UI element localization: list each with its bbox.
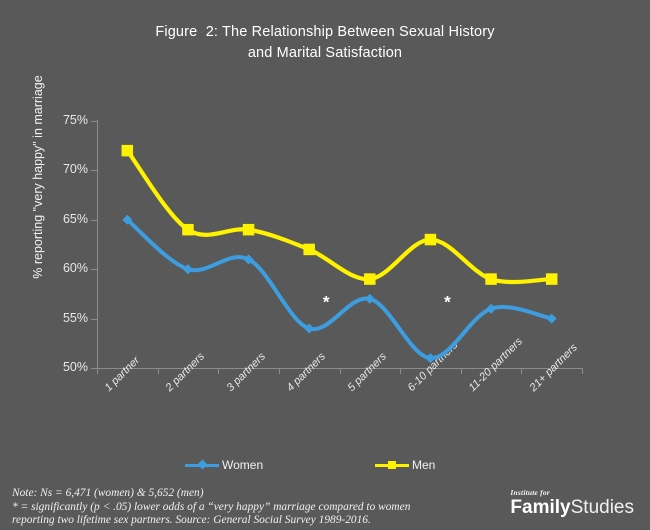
- series-line-men: [127, 151, 551, 282]
- logo-wordmark: FamilyStudies: [510, 498, 634, 518]
- data-point-men-4: [365, 274, 376, 285]
- legend-label-women: Women: [222, 458, 263, 472]
- data-point-men-2: [243, 224, 254, 235]
- legend: Women Men: [97, 458, 582, 480]
- data-point-women-5: [425, 353, 435, 363]
- legend-item-men[interactable]: Men: [375, 458, 435, 472]
- institute-for-family-studies-logo: Institute for FamilyStudies: [510, 488, 634, 518]
- logo-family-text: Family: [510, 497, 570, 518]
- data-point-women-7: [547, 314, 557, 324]
- data-point-men-3: [304, 244, 315, 255]
- footnote-line-3: reporting two lifetime sex partners. Sou…: [12, 514, 462, 528]
- series-plot: [0, 0, 650, 530]
- data-point-men-0: [122, 145, 133, 156]
- significance-asterisk: *: [444, 294, 451, 311]
- data-point-men-1: [183, 224, 194, 235]
- series-line-women: [127, 220, 551, 358]
- legend-swatch-women-icon: [185, 459, 219, 471]
- data-point-men-7: [546, 274, 557, 285]
- data-point-men-6: [486, 274, 497, 285]
- significance-asterisk: *: [323, 294, 330, 311]
- footnote: Note: Ns = 6,471 (women) & 5,652 (men) *…: [12, 487, 462, 528]
- legend-item-women[interactable]: Women: [185, 458, 263, 472]
- legend-label-men: Men: [412, 458, 435, 472]
- legend-swatch-men-icon: [375, 459, 409, 471]
- series-men: [122, 145, 557, 284]
- figure-container: Figure 2: The Relationship Between Sexua…: [0, 0, 650, 530]
- series-women: [122, 215, 556, 363]
- logo-studies-text: Studies: [571, 497, 634, 518]
- logo-tagline: Institute for: [510, 488, 634, 497]
- data-point-men-5: [425, 234, 436, 245]
- footnote-line-1: Note: Ns = 6,471 (women) & 5,652 (men): [12, 487, 462, 501]
- footnote-line-2: * = significantly (p < .05) lower odds o…: [12, 501, 462, 515]
